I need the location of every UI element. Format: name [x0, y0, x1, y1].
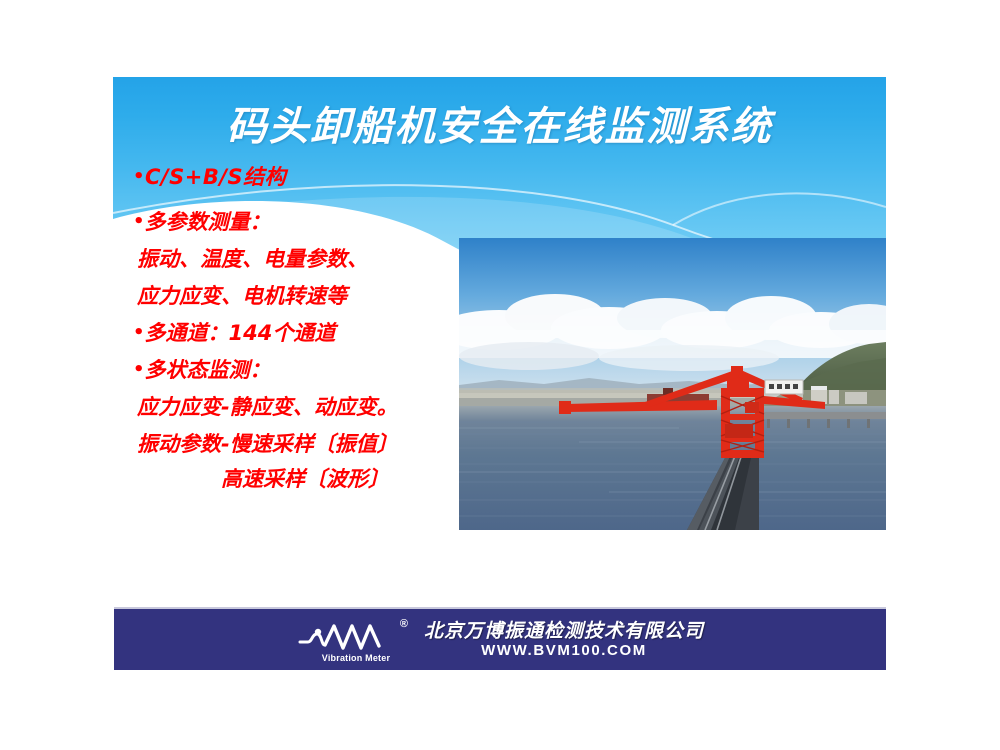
list-item-label: 应力应变-静应变、动应变。 — [137, 395, 398, 419]
list-item: 应力应变-静应变、动应变。 — [137, 397, 485, 418]
list-item-label: 多参数测量： — [145, 210, 271, 234]
slide-canvas: 码头卸船机安全在线监测系统 •C/S+B/S结构 •多参数测量： 振动、温度、电… — [113, 77, 886, 670]
list-item: 高速采样〔波形〕 — [221, 469, 485, 490]
list-item-label: 高速采样〔波形〕 — [221, 467, 389, 491]
list-item-label: 应力应变、电机转速等 — [137, 284, 347, 308]
vibration-meter-logo: ® Vibration Meter — [296, 618, 414, 664]
list-item-label: C/S+B/S结构 — [145, 165, 286, 189]
list-item: 应力应变、电机转速等 — [137, 286, 485, 307]
logo-caption: Vibration Meter — [304, 653, 408, 663]
page-title: 码头卸船机安全在线监测系统 — [113, 105, 886, 149]
list-item-label: 多通道：144个通道 — [145, 321, 336, 345]
company-website: WWW.BVM100.COM — [424, 642, 704, 659]
footer-content: ® Vibration Meter 北京万博振通检测技术有限公司 WWW.BVM… — [114, 609, 886, 670]
list-item-label: 振动参数-慢速采样〔振值〕 — [137, 432, 398, 456]
list-item: •多通道：144个通道 — [133, 323, 485, 344]
registered-trademark-icon: ® — [400, 618, 408, 630]
list-item-label: 振动、温度、电量参数、 — [137, 247, 368, 271]
footer-text-block: 北京万博振通检测技术有限公司 WWW.BVM100.COM — [424, 622, 704, 660]
list-item: 振动、温度、电量参数、 — [137, 249, 485, 270]
footer-band: ® Vibration Meter 北京万博振通检测技术有限公司 WWW.BVM… — [114, 607, 886, 670]
list-item: •多参数测量： — [133, 212, 485, 233]
bullet-list: •C/S+B/S结构 •多参数测量： 振动、温度、电量参数、 应力应变、电机转速… — [125, 167, 485, 490]
slide-root: 码头卸船机安全在线监测系统 •C/S+B/S结构 •多参数测量： 振动、温度、电… — [0, 0, 1000, 750]
bullet-marker: • — [133, 166, 145, 187]
company-name: 北京万博振通检测技术有限公司 — [424, 622, 704, 642]
bullet-marker: • — [133, 322, 145, 343]
list-item-label: 多状态监测： — [145, 358, 271, 382]
port-unloader-photo — [459, 238, 886, 530]
list-item: •多状态监测： — [133, 360, 485, 381]
bullet-marker: • — [133, 359, 145, 380]
list-item: 振动参数-慢速采样〔振值〕 — [137, 434, 485, 455]
list-item: •C/S+B/S结构 — [133, 167, 485, 188]
bullet-marker: • — [133, 211, 145, 232]
